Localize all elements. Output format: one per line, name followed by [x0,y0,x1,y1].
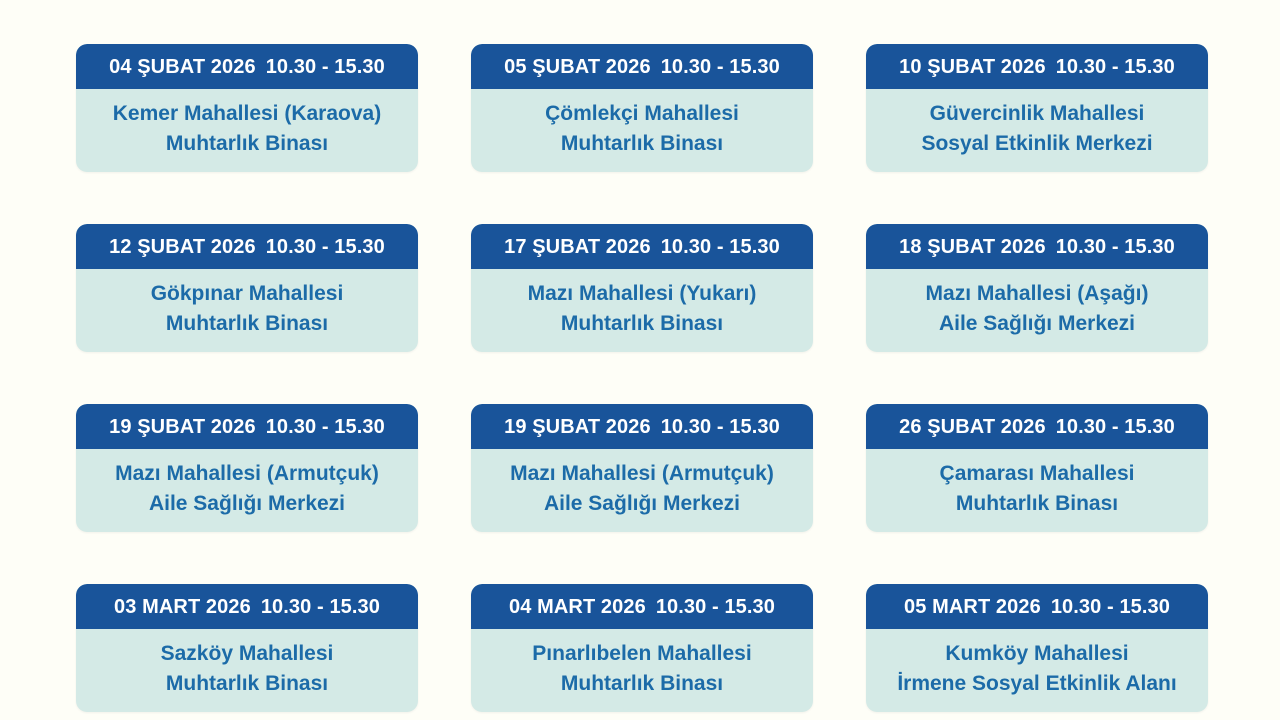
event-venue-line-2: Aile Sağlığı Merkezi [544,489,740,519]
event-venue-line-2: Muhtarlık Binası [561,129,723,159]
event-venue-line-2: Muhtarlık Binası [561,309,723,339]
event-card-body: Mazı Mahallesi (Aşağı) Aile Sağlığı Merk… [866,269,1208,352]
event-card-body: Çömlekçi Mahallesi Muhtarlık Binası [471,89,813,172]
event-date: 05 MART 2026 [904,597,1041,617]
event-card-body: Mazı Mahallesi (Yukarı) Muhtarlık Binası [471,269,813,352]
event-time: 10.30 - 15.30 [661,237,780,257]
event-card[interactable]: 03 MART 2026 10.30 - 15.30 Sazköy Mahall… [76,584,418,712]
event-card[interactable]: 26 ŞUBAT 2026 10.30 - 15.30 Çamarası Mah… [866,404,1208,532]
event-card-body: Mazı Mahallesi (Armutçuk) Aile Sağlığı M… [471,449,813,532]
event-date: 03 MART 2026 [114,597,251,617]
event-venue-line-1: Mazı Mahallesi (Armutçuk) [115,459,379,489]
event-time: 10.30 - 15.30 [1056,57,1175,77]
event-time: 10.30 - 15.30 [261,597,380,617]
event-venue-line-1: Kemer Mahallesi (Karaova) [113,99,381,129]
event-venue-line-2: Aile Sağlığı Merkezi [149,489,345,519]
event-date: 10 ŞUBAT 2026 [899,57,1046,77]
event-venue-line-1: Mazı Mahallesi (Aşağı) [926,279,1149,309]
event-card-header: 04 MART 2026 10.30 - 15.30 [471,584,813,629]
event-time: 10.30 - 15.30 [661,417,780,437]
event-card[interactable]: 05 MART 2026 10.30 - 15.30 Kumköy Mahall… [866,584,1208,712]
event-venue-line-1: Gökpınar Mahallesi [151,279,344,309]
event-venue-line-2: Muhtarlık Binası [561,669,723,699]
event-venue-line-2: Muhtarlık Binası [166,129,328,159]
event-card-header: 03 MART 2026 10.30 - 15.30 [76,584,418,629]
event-card-header: 19 ŞUBAT 2026 10.30 - 15.30 [471,404,813,449]
event-card-body: Güvercinlik Mahallesi Sosyal Etkinlik Me… [866,89,1208,172]
event-date: 19 ŞUBAT 2026 [504,417,651,437]
event-card[interactable]: 04 ŞUBAT 2026 10.30 - 15.30 Kemer Mahall… [76,44,418,172]
event-card[interactable]: 18 ŞUBAT 2026 10.30 - 15.30 Mazı Mahalle… [866,224,1208,352]
event-card-body: Kemer Mahallesi (Karaova) Muhtarlık Bina… [76,89,418,172]
event-card-header: 04 ŞUBAT 2026 10.30 - 15.30 [76,44,418,89]
event-venue-line-1: Kumköy Mahallesi [945,639,1128,669]
event-card-header: 19 ŞUBAT 2026 10.30 - 15.30 [76,404,418,449]
event-card-header: 05 MART 2026 10.30 - 15.30 [866,584,1208,629]
event-date: 19 ŞUBAT 2026 [109,417,256,437]
event-date: 04 MART 2026 [509,597,646,617]
event-venue-line-1: Çamarası Mahallesi [940,459,1135,489]
event-time: 10.30 - 15.30 [656,597,775,617]
event-time: 10.30 - 15.30 [1056,417,1175,437]
event-time: 10.30 - 15.30 [266,57,385,77]
event-venue-line-1: Güvercinlik Mahallesi [930,99,1145,129]
event-venue-line-1: Çömlekçi Mahallesi [545,99,739,129]
event-date: 12 ŞUBAT 2026 [109,237,256,257]
event-card-body: Pınarlıbelen Mahallesi Muhtarlık Binası [471,629,813,712]
event-card-header: 05 ŞUBAT 2026 10.30 - 15.30 [471,44,813,89]
event-schedule-grid: 04 ŞUBAT 2026 10.30 - 15.30 Kemer Mahall… [0,0,1280,720]
event-venue-line-2: Muhtarlık Binası [166,309,328,339]
event-card[interactable]: 05 ŞUBAT 2026 10.30 - 15.30 Çömlekçi Mah… [471,44,813,172]
event-time: 10.30 - 15.30 [266,237,385,257]
event-card[interactable]: 04 MART 2026 10.30 - 15.30 Pınarlıbelen … [471,584,813,712]
event-card-body: Mazı Mahallesi (Armutçuk) Aile Sağlığı M… [76,449,418,532]
event-venue-line-2: Muhtarlık Binası [166,669,328,699]
event-venue-line-1: Pınarlıbelen Mahallesi [532,639,751,669]
event-date: 26 ŞUBAT 2026 [899,417,1046,437]
event-card[interactable]: 10 ŞUBAT 2026 10.30 - 15.30 Güvercinlik … [866,44,1208,172]
event-card-header: 10 ŞUBAT 2026 10.30 - 15.30 [866,44,1208,89]
event-card-header: 26 ŞUBAT 2026 10.30 - 15.30 [866,404,1208,449]
event-venue-line-2: Aile Sağlığı Merkezi [939,309,1135,339]
event-card[interactable]: 19 ŞUBAT 2026 10.30 - 15.30 Mazı Mahalle… [76,404,418,532]
event-card[interactable]: 12 ŞUBAT 2026 10.30 - 15.30 Gökpınar Mah… [76,224,418,352]
event-card-body: Gökpınar Mahallesi Muhtarlık Binası [76,269,418,352]
event-card-body: Kumköy Mahallesi İrmene Sosyal Etkinlik … [866,629,1208,712]
event-date: 18 ŞUBAT 2026 [899,237,1046,257]
event-venue-line-1: Mazı Mahallesi (Yukarı) [528,279,757,309]
event-card-header: 12 ŞUBAT 2026 10.30 - 15.30 [76,224,418,269]
event-date: 04 ŞUBAT 2026 [109,57,256,77]
event-venue-line-1: Sazköy Mahallesi [161,639,334,669]
event-card[interactable]: 17 ŞUBAT 2026 10.30 - 15.30 Mazı Mahalle… [471,224,813,352]
event-date: 17 ŞUBAT 2026 [504,237,651,257]
event-time: 10.30 - 15.30 [661,57,780,77]
event-card-body: Çamarası Mahallesi Muhtarlık Binası [866,449,1208,532]
event-venue-line-2: İrmene Sosyal Etkinlik Alanı [897,669,1176,699]
event-date: 05 ŞUBAT 2026 [504,57,651,77]
event-card-header: 18 ŞUBAT 2026 10.30 - 15.30 [866,224,1208,269]
event-time: 10.30 - 15.30 [1056,237,1175,257]
event-venue-line-2: Muhtarlık Binası [956,489,1118,519]
event-time: 10.30 - 15.30 [266,417,385,437]
event-card-body: Sazköy Mahallesi Muhtarlık Binası [76,629,418,712]
event-venue-line-1: Mazı Mahallesi (Armutçuk) [510,459,774,489]
event-venue-line-2: Sosyal Etkinlik Merkezi [921,129,1152,159]
event-card[interactable]: 19 ŞUBAT 2026 10.30 - 15.30 Mazı Mahalle… [471,404,813,532]
event-card-header: 17 ŞUBAT 2026 10.30 - 15.30 [471,224,813,269]
event-time: 10.30 - 15.30 [1051,597,1170,617]
